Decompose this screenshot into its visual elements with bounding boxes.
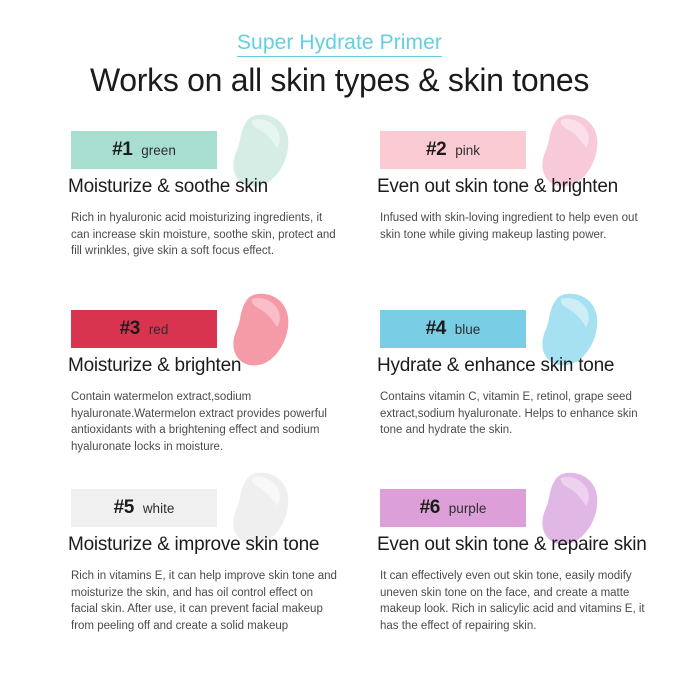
shade-badge-row: #2 pink xyxy=(377,118,662,174)
page-headline: Works on all skin types & skin tones xyxy=(0,62,679,99)
shade-color-name: green xyxy=(141,143,176,158)
shade-number: #6 xyxy=(420,497,440,519)
card-body: Contain watermelon extract,sodium hyalur… xyxy=(71,389,339,455)
benefit-card-grid: #1 green Moisturize & soothe xyxy=(0,118,679,666)
shade-color-name: red xyxy=(149,322,169,337)
benefit-card: #1 green Moisturize & soothe xyxy=(68,118,353,297)
shade-number: #4 xyxy=(426,318,446,340)
shade-badge-row: #6 purple xyxy=(377,476,662,532)
card-body: Infused with skin-loving ingredient to h… xyxy=(380,210,648,243)
shade-badge-row: #1 green xyxy=(68,118,353,174)
shade-badge: #1 green xyxy=(71,131,217,169)
brand-title-text: Super Hydrate Primer xyxy=(237,31,442,57)
benefit-card: #5 white Moisturize & improve skin tone … xyxy=(68,476,353,666)
shade-badge: #6 purple xyxy=(380,489,526,527)
card-title: Moisturize & soothe skin xyxy=(68,176,268,198)
benefit-card: #2 pink Even out skin tone & brighten In… xyxy=(377,118,662,297)
card-title: Hydrate & enhance skin tone xyxy=(377,355,614,377)
card-title: Even out skin tone & brighten xyxy=(377,176,618,198)
shade-badge: #5 white xyxy=(71,489,217,527)
card-body: Rich in vitamins E, it can help improve … xyxy=(71,568,339,634)
shade-color-name: purple xyxy=(449,501,487,516)
card-body: Rich in hyaluronic acid moisturizing ing… xyxy=(71,210,339,260)
shade-badge: #3 red xyxy=(71,310,217,348)
benefit-card: #3 red Moisturize & brighten Contain wat… xyxy=(68,297,353,476)
card-title: Even out skin tone & repaire skin xyxy=(377,534,647,556)
shade-color-name: white xyxy=(143,501,175,516)
shade-badge: #2 pink xyxy=(380,131,526,169)
card-body: It can effectively even out skin tone, e… xyxy=(380,568,648,634)
benefit-card: #4 blue Hydrate & enhance skin tone Cont… xyxy=(377,297,662,476)
card-body: Contains vitamin C, vitamin E, retinol, … xyxy=(380,389,648,439)
shade-number: #3 xyxy=(120,318,140,340)
shade-badge-row: #5 white xyxy=(68,476,353,532)
shade-badge: #4 blue xyxy=(380,310,526,348)
shade-badge-row: #3 red xyxy=(68,297,353,353)
shade-badge-row: #4 blue xyxy=(377,297,662,353)
shade-color-name: pink xyxy=(455,143,480,158)
benefit-card: #6 purple Even out skin tone & repaire s… xyxy=(377,476,662,666)
shade-number: #2 xyxy=(426,139,446,161)
shade-number: #5 xyxy=(114,497,134,519)
shade-color-name: blue xyxy=(455,322,481,337)
shade-number: #1 xyxy=(112,139,132,161)
card-title: Moisturize & brighten xyxy=(68,355,241,377)
card-title: Moisturize & improve skin tone xyxy=(68,534,319,556)
infographic-page: Super Hydrate Primer Works on all skin t… xyxy=(0,0,679,679)
brand-title: Super Hydrate Primer xyxy=(0,31,679,55)
